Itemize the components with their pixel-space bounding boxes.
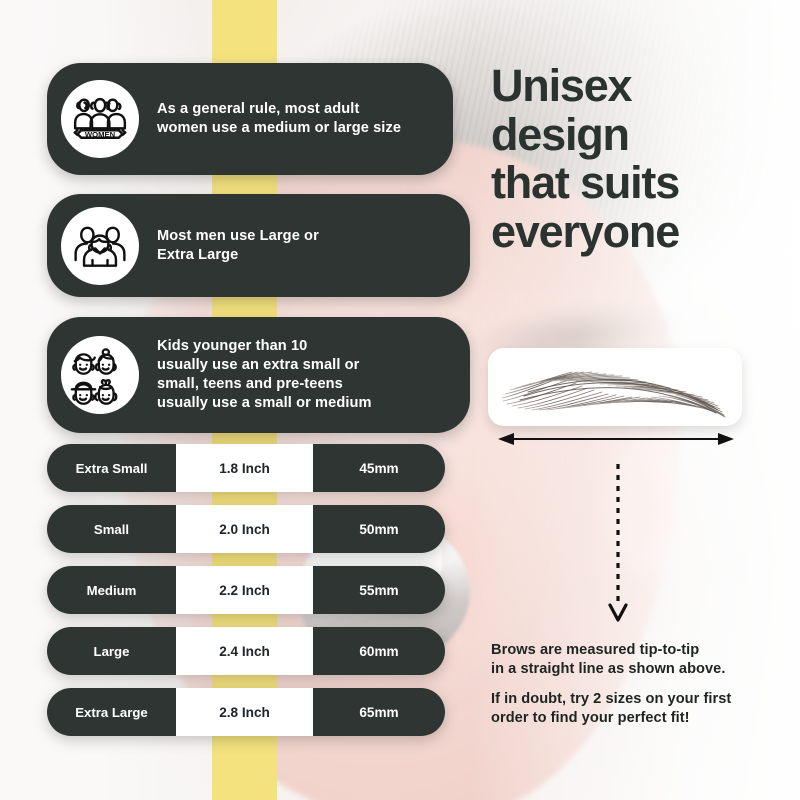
size-mm: 65mm [313,688,445,736]
doubt-note: If in doubt, try 2 sizes on your first o… [491,690,791,729]
size-inch: 1.8 Inch [176,444,313,492]
size-row-extra-large: Extra Large 2.8 Inch 65mm [47,688,445,736]
info-card-women: WOMEN As a general rule, most adult wome… [47,63,453,175]
size-name: Extra Small [47,444,176,492]
size-inch: 2.8 Inch [176,688,313,736]
kids-faces-icon [61,336,139,414]
eyebrow-sample-card [488,348,742,426]
size-name: Medium [47,566,176,614]
women-group-icon: WOMEN [61,80,139,158]
size-mm: 50mm [313,505,445,553]
page-title: Unisex design that suits everyone [491,62,791,256]
infographic-canvas: WOMEN As a general rule, most adult wome… [0,0,800,800]
dashed-down-arrow [607,462,629,627]
size-inch: 2.0 Inch [176,505,313,553]
size-row-medium: Medium 2.2 Inch 55mm [47,566,445,614]
size-name: Large [47,627,176,675]
size-row-large: Large 2.4 Inch 60mm [47,627,445,675]
size-mm: 55mm [313,566,445,614]
size-inch: 2.2 Inch [176,566,313,614]
size-mm: 45mm [313,444,445,492]
info-card-kids-text: Kids younger than 10 usually use an extr… [157,337,372,413]
info-card-men-text: Most men use Large or Extra Large [157,227,319,265]
measure-note: Brows are measured tip-to-tip in a strai… [491,641,781,680]
info-card-men: Most men use Large or Extra Large [47,194,470,297]
size-name: Extra Large [47,688,176,736]
eyebrow-illustration [494,354,736,420]
size-name: Small [47,505,176,553]
women-icon-banner-text: WOMEN [85,130,116,139]
info-card-kids: Kids younger than 10 usually use an extr… [47,317,470,433]
info-card-women-text: As a general rule, most adult women use … [157,100,401,138]
size-row-extra-small: Extra Small 1.8 Inch 45mm [47,444,445,492]
size-mm: 60mm [313,627,445,675]
size-row-small: Small 2.0 Inch 50mm [47,505,445,553]
measurement-arrow [496,430,736,448]
men-group-icon [61,207,139,285]
size-inch: 2.4 Inch [176,627,313,675]
